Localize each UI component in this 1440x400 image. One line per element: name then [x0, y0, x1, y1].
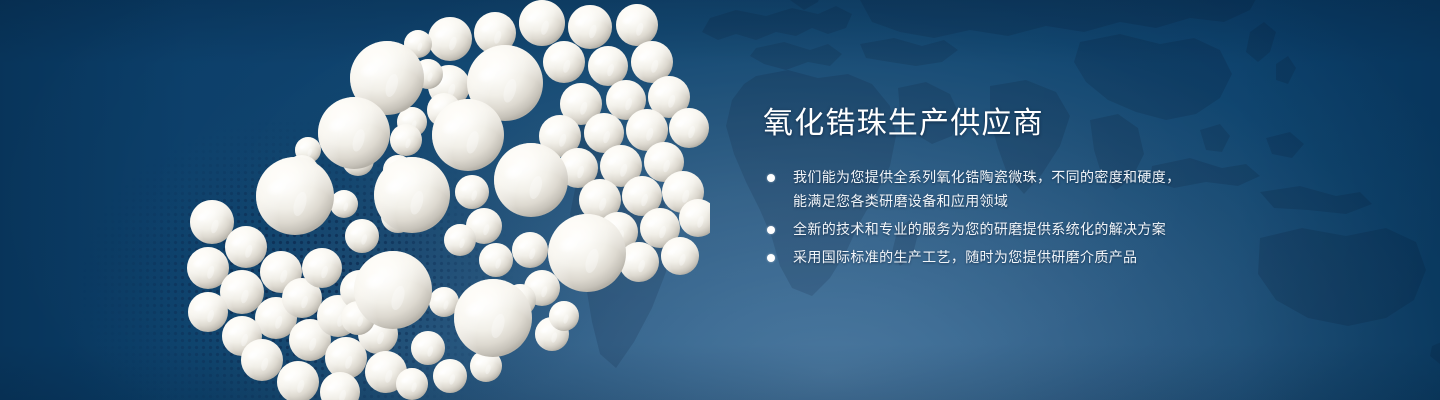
bullet-line: 能满足您各类研磨设备和应用领域 — [793, 190, 1233, 214]
bullet-line: 全新的技术和专业的服务为您的研磨提供系统化的解决方案 — [793, 218, 1233, 242]
bullet-dot-icon — [767, 174, 775, 182]
bullet-item-3: 采用国际标准的生产工艺，随时为您提供研磨介质产品 — [763, 246, 1233, 270]
banner-headline: 氧化锆珠生产供应商 — [763, 104, 1233, 144]
hero-banner: 氧化锆珠生产供应商 我们能为您提供全系列氧化锆陶瓷微珠，不同的密度和硬度， 能满… — [0, 0, 1440, 400]
bullet-line: 我们能为您提供全系列氧化锆陶瓷微珠，不同的密度和硬度， — [793, 166, 1233, 190]
bullet-line: 采用国际标准的生产工艺，随时为您提供研磨介质产品 — [793, 246, 1233, 270]
bullet-dot-icon — [767, 254, 775, 262]
bullet-item-2: 全新的技术和专业的服务为您的研磨提供系统化的解决方案 — [763, 218, 1233, 242]
banner-bullet-list: 我们能为您提供全系列氧化锆陶瓷微珠，不同的密度和硬度， 能满足您各类研磨设备和应… — [763, 166, 1233, 270]
banner-copy-block: 氧化锆珠生产供应商 我们能为您提供全系列氧化锆陶瓷微珠，不同的密度和硬度， 能满… — [763, 104, 1233, 270]
bullet-item-1: 我们能为您提供全系列氧化锆陶瓷微珠，不同的密度和硬度， 能满足您各类研磨设备和应… — [763, 166, 1233, 214]
bullet-dot-icon — [767, 226, 775, 234]
